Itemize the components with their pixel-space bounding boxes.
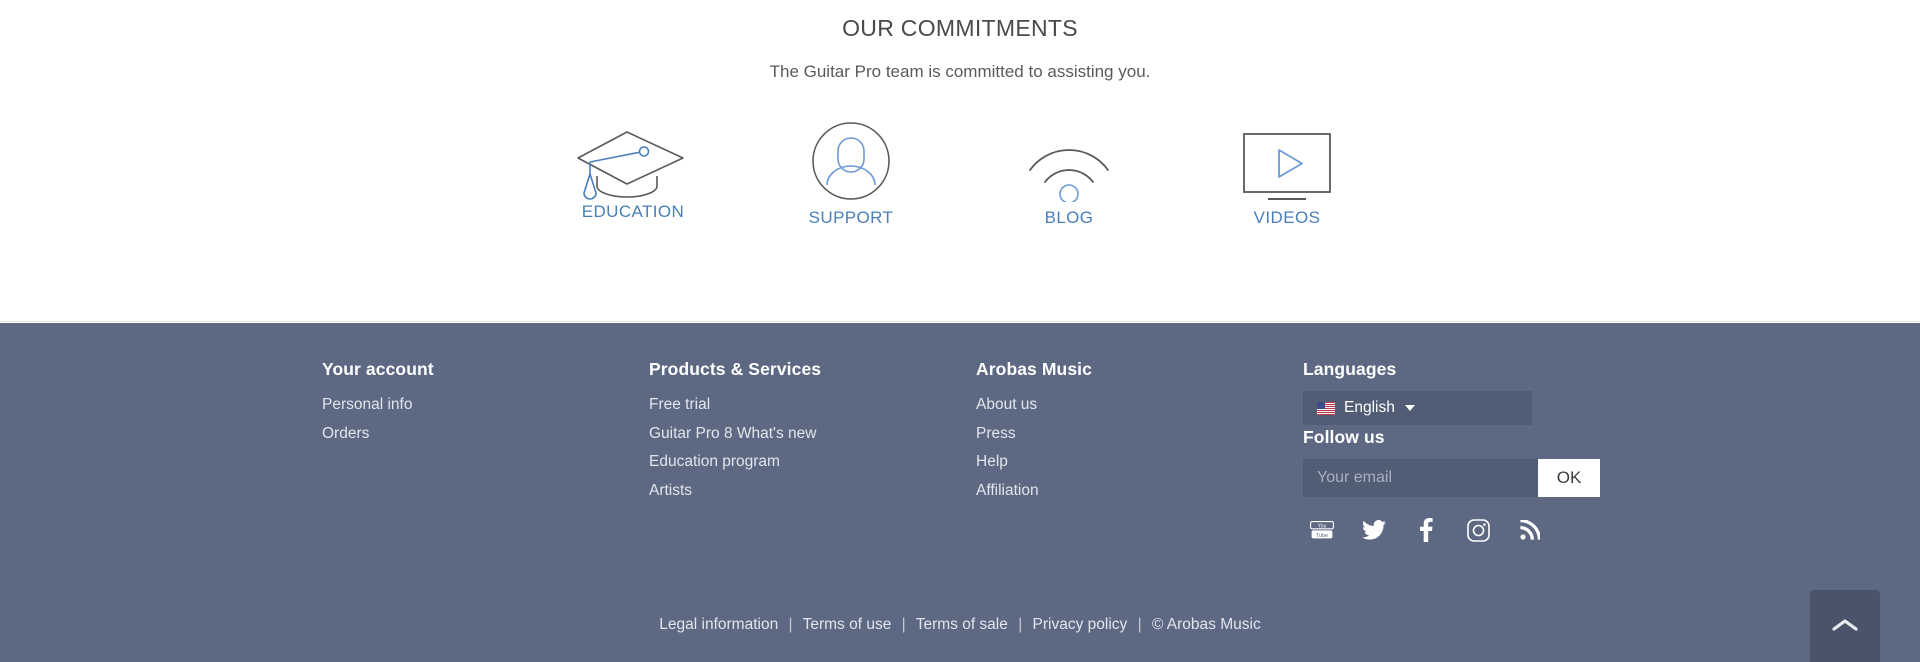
rss-icon[interactable] <box>1517 517 1543 543</box>
newsletter-form: OK <box>1303 459 1599 497</box>
commitment-item-support[interactable]: SUPPORT <box>742 120 960 228</box>
chevron-down-icon <box>1405 405 1415 411</box>
footer-column-heading: Your account <box>322 357 649 381</box>
commitment-label: VIDEOS <box>1254 208 1321 228</box>
list-item: Orders <box>322 420 649 449</box>
footer-link-about-us[interactable]: About us <box>976 396 1037 413</box>
commitments-section: OUR COMMITMENTS The Guitar Pro team is c… <box>0 0 1920 322</box>
list-item: Guitar Pro 8 What's new <box>649 420 976 449</box>
newsletter-submit-button[interactable]: OK <box>1538 459 1600 497</box>
follow-us-heading: Follow us <box>1303 425 1623 449</box>
footer-link-artists[interactable]: Artists <box>649 482 692 499</box>
list-item: Personal info <box>322 391 649 420</box>
social-links: You Tube <box>1309 517 1623 543</box>
list-item: Artists <box>649 477 976 506</box>
twitter-icon[interactable] <box>1361 517 1387 543</box>
legal-link-terms-of-sale[interactable]: Terms of sale <box>916 616 1008 633</box>
svg-text:Tube: Tube <box>1316 533 1328 539</box>
footer-link-education-program[interactable]: Education program <box>649 453 780 470</box>
footer-link-list: Free trial Guitar Pro 8 What's new Educa… <box>649 391 976 505</box>
us-flag-icon <box>1317 402 1335 415</box>
list-item: Free trial <box>649 391 976 420</box>
graduation-cap-icon <box>567 120 699 202</box>
language-selected-label: English <box>1344 399 1395 417</box>
legal-link-privacy-policy[interactable]: Privacy policy <box>1033 616 1128 633</box>
legal-separator: | <box>783 616 799 633</box>
footer-column-arobas-music: Arobas Music About us Press Help Affilia… <box>976 357 1303 543</box>
legal-link-legal-information[interactable]: Legal information <box>659 616 778 633</box>
footer-link-list: About us Press Help Affiliation <box>976 391 1303 505</box>
page-title: OUR COMMITMENTS <box>0 0 1920 44</box>
list-item: Education program <box>649 448 976 477</box>
commitments-subtitle: The Guitar Pro team is committed to assi… <box>0 44 1920 84</box>
legal-separator: | <box>1132 616 1148 633</box>
support-person-icon <box>810 120 892 202</box>
commitment-label: SUPPORT <box>809 208 894 228</box>
footer-column-languages-follow: Languages English Follow us OK <box>1303 357 1623 543</box>
list-item: Press <box>976 420 1303 449</box>
youtube-icon[interactable]: You Tube <box>1309 517 1335 543</box>
footer-link-personal-info[interactable]: Personal info <box>322 396 412 413</box>
footer-link-free-trial[interactable]: Free trial <box>649 396 710 413</box>
footer-column-heading: Arobas Music <box>976 357 1303 381</box>
language-selector[interactable]: English <box>1303 391 1532 425</box>
copyright-text: © Arobas Music <box>1152 616 1261 633</box>
footer-column-your-account: Your account Personal info Orders <box>322 357 649 543</box>
footer-link-guitar-pro-8-whats-new[interactable]: Guitar Pro 8 What's new <box>649 425 817 442</box>
commitment-label: BLOG <box>1045 208 1094 228</box>
footer-legal: Legal information | Terms of use | Terms… <box>0 616 1920 634</box>
footer-link-affiliation[interactable]: Affiliation <box>976 482 1039 499</box>
page-root: OUR COMMITMENTS The Guitar Pro team is c… <box>0 0 1920 662</box>
legal-separator: | <box>896 616 912 633</box>
instagram-icon[interactable] <box>1465 517 1491 543</box>
footer-columns: Your account Personal info Orders Produc… <box>0 357 1920 543</box>
footer-link-press[interactable]: Press <box>976 425 1016 442</box>
commitment-item-videos[interactable]: VIDEOS <box>1178 120 1396 228</box>
facebook-icon[interactable] <box>1413 517 1439 543</box>
commitment-item-blog[interactable]: BLOG <box>960 120 1178 228</box>
footer-column-heading: Products & Services <box>649 357 976 381</box>
list-item: Help <box>976 448 1303 477</box>
svg-text:You: You <box>1318 523 1327 529</box>
chevron-up-icon <box>1832 618 1858 634</box>
commitments-list: EDUCATION SUPPORT <box>0 120 1920 228</box>
list-item: Affiliation <box>976 477 1303 506</box>
footer-link-orders[interactable]: Orders <box>322 425 369 442</box>
email-field[interactable] <box>1303 459 1538 497</box>
list-item: About us <box>976 391 1303 420</box>
legal-link-terms-of-use[interactable]: Terms of use <box>803 616 892 633</box>
footer-link-help[interactable]: Help <box>976 453 1008 470</box>
scroll-to-top-button[interactable] <box>1810 590 1880 662</box>
site-footer: Your account Personal info Orders Produc… <box>0 323 1920 662</box>
commitment-label: EDUCATION <box>582 202 684 222</box>
legal-separator: | <box>1012 616 1028 633</box>
commitment-item-education[interactable]: EDUCATION <box>524 120 742 222</box>
rss-signal-icon <box>1024 120 1114 202</box>
languages-heading: Languages <box>1303 357 1623 381</box>
video-play-icon <box>1239 120 1335 202</box>
footer-column-products-services: Products & Services Free trial Guitar Pr… <box>649 357 976 543</box>
footer-link-list: Personal info Orders <box>322 391 649 448</box>
